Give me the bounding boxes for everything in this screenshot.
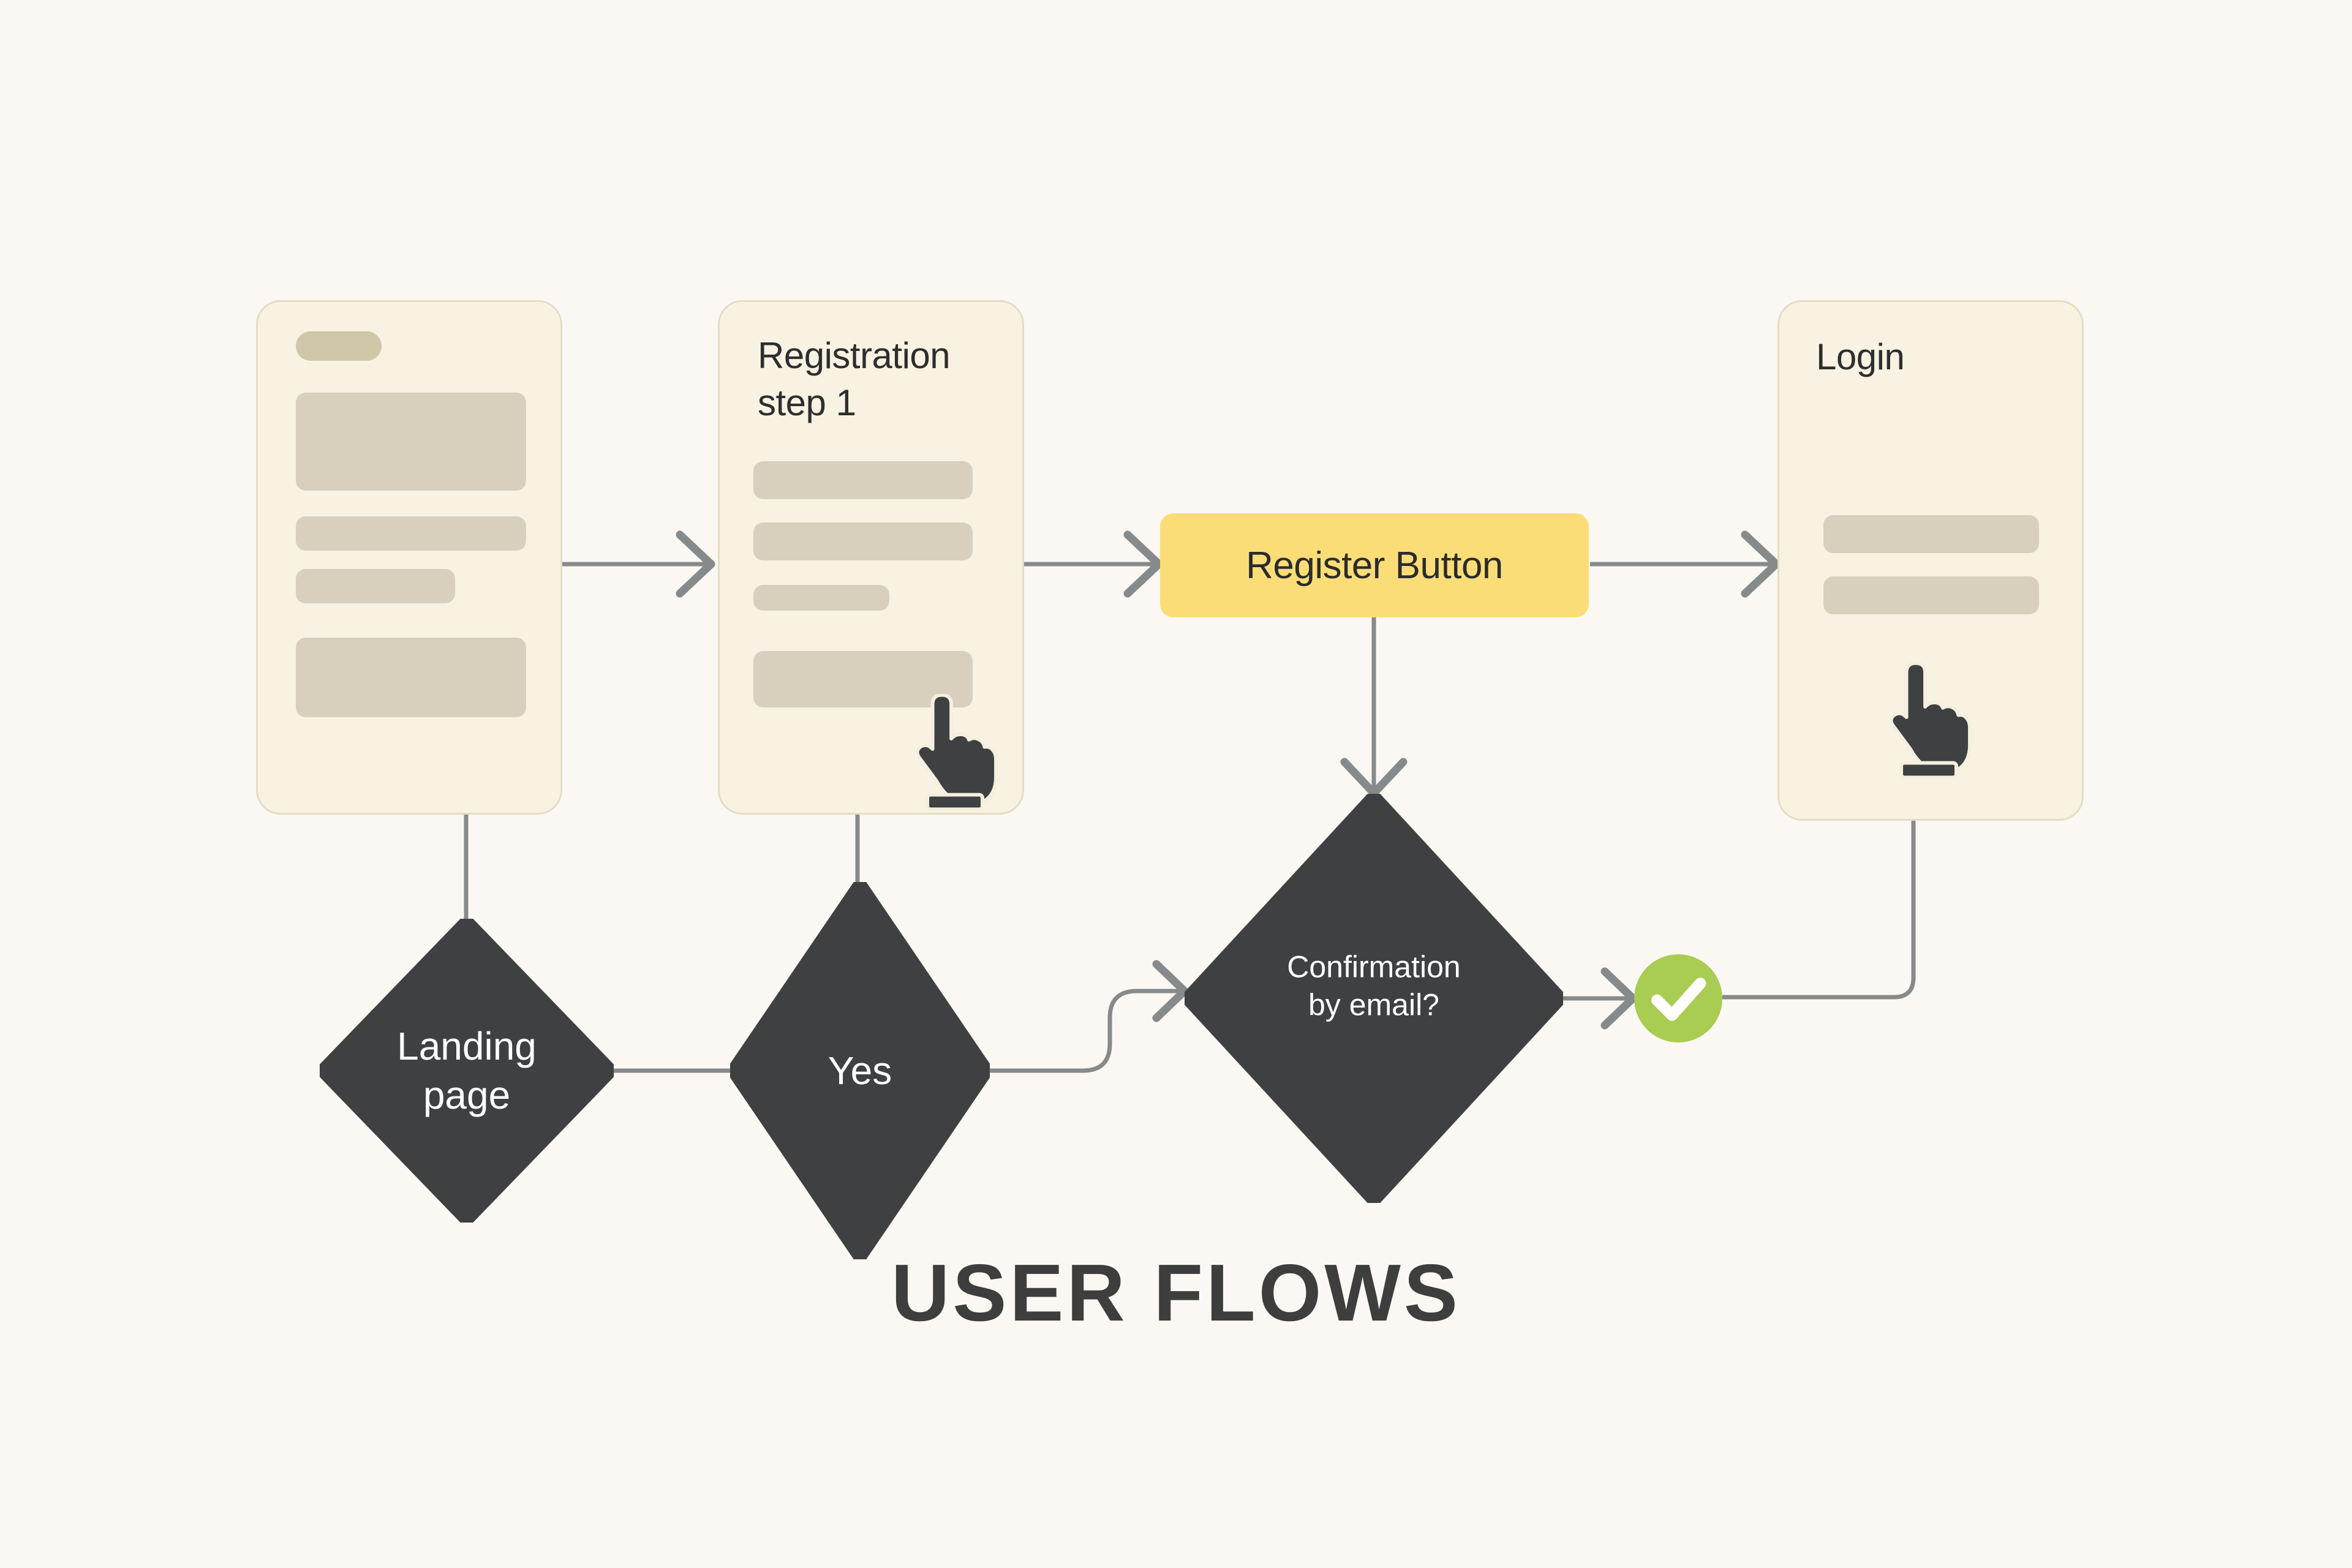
check-icon [1634, 954, 1722, 1042]
landing-page-card[interactable] [256, 300, 562, 815]
login-field-password[interactable] [1823, 576, 2039, 614]
content-block-line-2 [296, 569, 455, 603]
yes-diamond[interactable]: Yes [730, 882, 990, 1259]
form-field-1 [753, 461, 973, 499]
login-field-username[interactable] [1823, 515, 2039, 553]
diamond-shape [730, 882, 990, 1259]
diagram-canvas: Registration step 1 Register Button Logi… [0, 0, 2352, 1568]
edge-registration-card-to-register-button [1024, 535, 1160, 594]
diamond-shape [320, 919, 614, 1223]
form-field-2 [753, 522, 973, 560]
edge-success-badge-to-login-card [1722, 821, 1913, 997]
pointing-hand-cursor [1870, 662, 1974, 778]
registration-step-1-card[interactable]: Registration step 1 [718, 300, 1024, 815]
page-title: USER FLOWS [0, 1246, 2352, 1339]
edge-yes-diamond-to-confirmation-diamond [990, 964, 1185, 1071]
confirmation-by-email-diamond[interactable]: Confirmation by email? [1185, 794, 1563, 1203]
registration-card-title: Registration step 1 [758, 333, 950, 427]
content-block-line-1 [296, 516, 526, 551]
pointing-hand-cursor [896, 694, 1000, 810]
login-card[interactable]: Login [1777, 300, 2084, 821]
edge-register-button-to-login-card [1590, 535, 1777, 594]
edge-confirmation-diamond-to-success-badge [1563, 971, 1634, 1025]
landing-page-diamond[interactable]: Landing page [320, 919, 614, 1223]
content-block-hero [296, 393, 526, 491]
edge-register-button-to-confirmation-diamond [1344, 617, 1403, 794]
register-button[interactable]: Register Button [1160, 513, 1589, 617]
form-field-3 [753, 585, 889, 611]
register-button-label: Register Button [1246, 544, 1503, 587]
content-block-footer [296, 638, 526, 717]
edge-landing-card-to-registration-card [562, 535, 712, 594]
login-card-title: Login [1816, 334, 1904, 381]
logo-placeholder [296, 331, 382, 361]
success-status-badge [1634, 954, 1722, 1042]
diamond-shape [1185, 794, 1563, 1203]
